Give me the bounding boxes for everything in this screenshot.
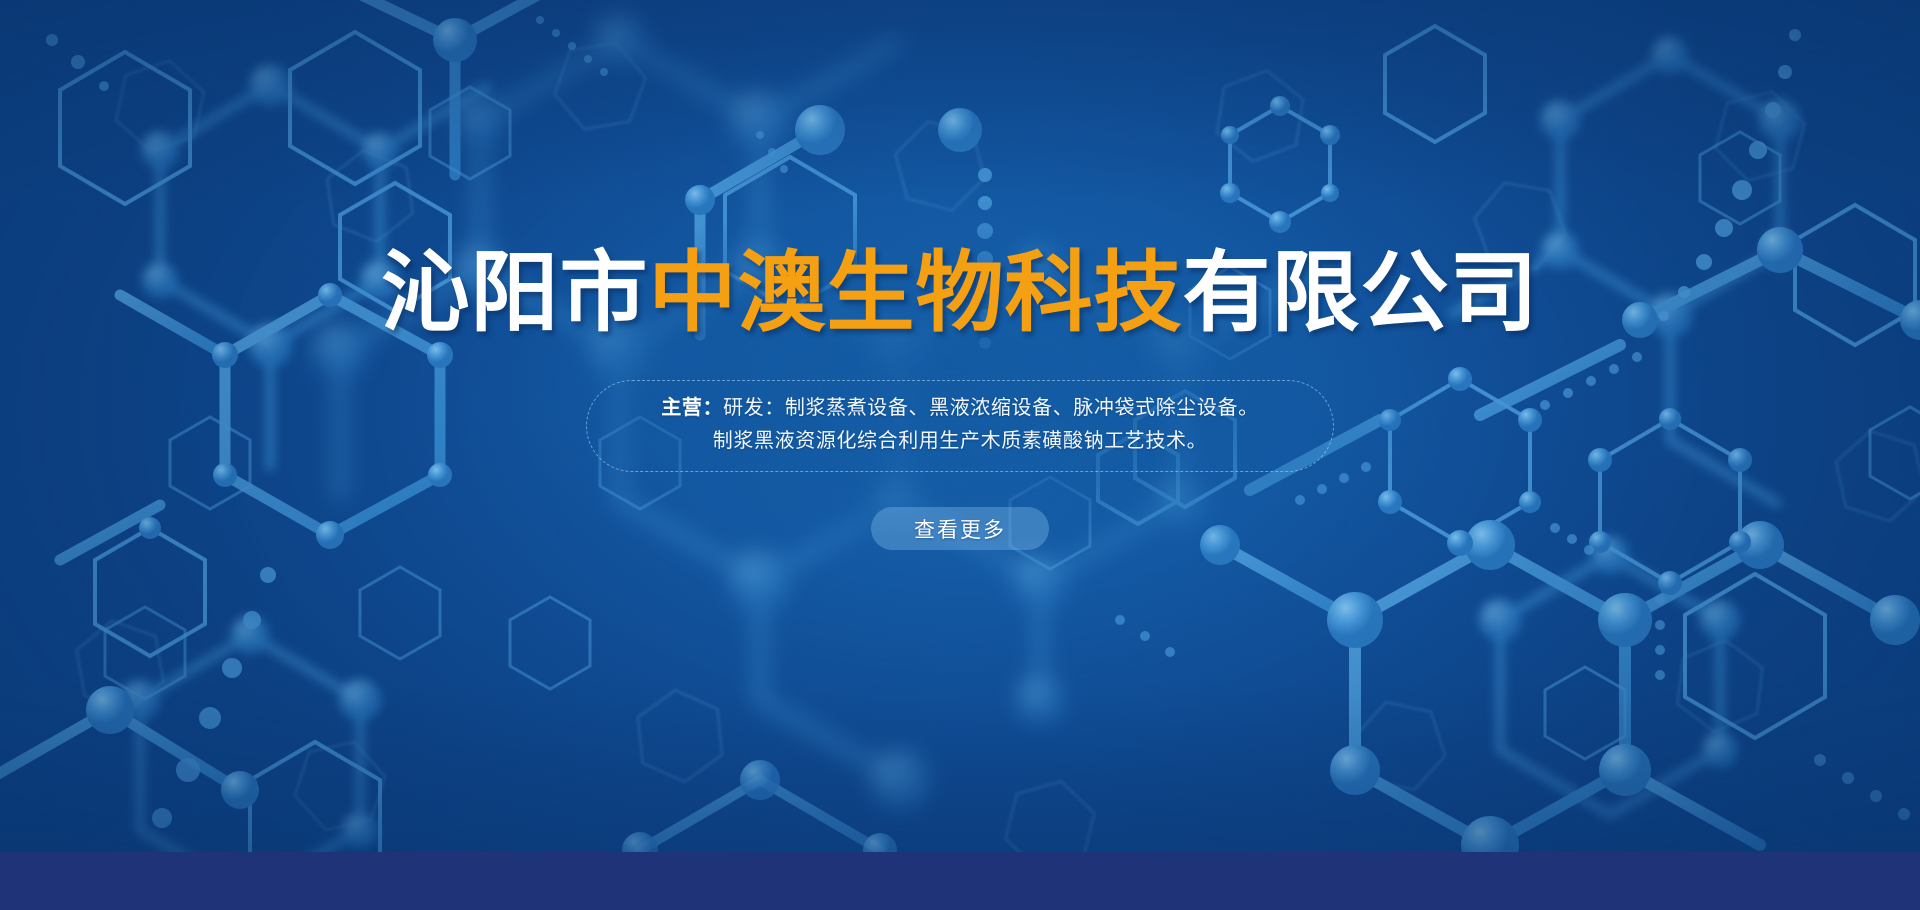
business-scope-line-2: 制浆黑液资源化综合利用生产木质素磺酸钠工艺技术。 [713,425,1207,458]
business-scope-box: 主营：研发：制浆蒸煮设备、黑液浓缩设备、脉冲袋式除尘设备。 制浆黑液资源化综合利… [586,380,1334,472]
business-scope-label: 主营： [661,397,723,419]
view-more-button[interactable]: 查看更多 [871,507,1049,550]
title-part-suffix: 有限公司 [1183,243,1539,342]
title-part-prefix: 沁阳市 [381,243,648,342]
title-part-highlight: 中澳生物科技 [648,243,1182,342]
bottom-navy-bar [0,852,1920,910]
company-title: 沁阳市中澳生物科技有限公司 [381,249,1538,337]
business-scope-line-1: 主营：研发：制浆蒸煮设备、黑液浓缩设备、脉冲袋式除尘设备。 [661,392,1258,425]
banner-content: 沁阳市中澳生物科技有限公司 主营：研发：制浆蒸煮设备、黑液浓缩设备、脉冲袋式除尘… [0,0,1920,852]
hero-banner: 沁阳市中澳生物科技有限公司 主营：研发：制浆蒸煮设备、黑液浓缩设备、脉冲袋式除尘… [0,0,1920,910]
business-scope-line-1-text: 研发：制浆蒸煮设备、黑液浓缩设备、脉冲袋式除尘设备。 [723,397,1259,419]
